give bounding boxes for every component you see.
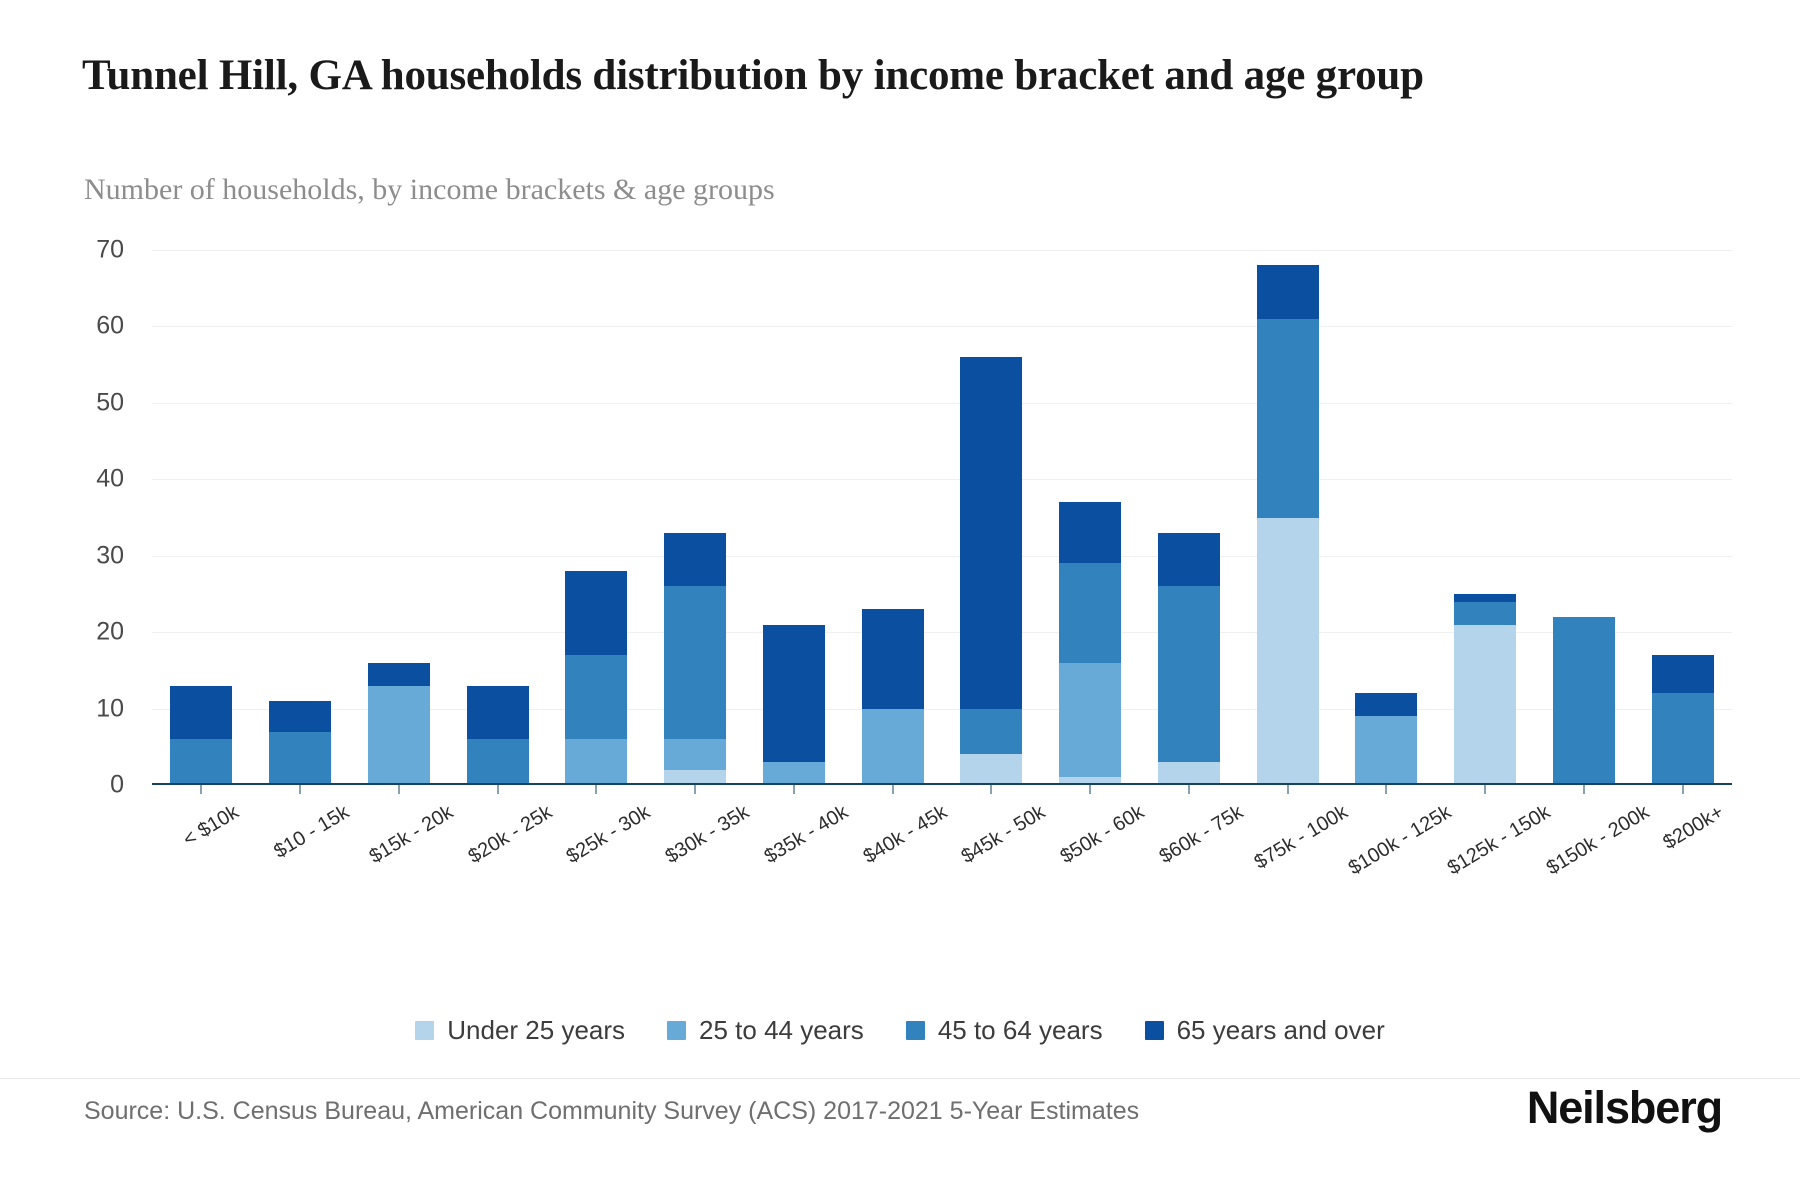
x-axis-line <box>152 783 1732 785</box>
bar-segment[interactable] <box>467 739 529 785</box>
bar-slot <box>350 250 449 785</box>
legend-swatch-icon <box>667 1021 686 1040</box>
bar-slot <box>646 250 745 785</box>
stacked-bar[interactable] <box>1553 617 1615 785</box>
bar-slot <box>448 250 547 785</box>
stacked-bar[interactable] <box>565 571 627 785</box>
y-tick-label: 50 <box>4 388 124 417</box>
bar-segment[interactable] <box>1355 716 1417 785</box>
stacked-bar[interactable] <box>862 609 924 785</box>
y-tick-label: 70 <box>4 236 124 265</box>
bar-slot <box>843 250 942 785</box>
legend-item[interactable]: 45 to 64 years <box>906 1015 1103 1046</box>
legend-label: 65 years and over <box>1177 1015 1385 1046</box>
x-label-slot: $15k - 20k <box>350 787 449 917</box>
x-tick-label: $35k - 40k <box>761 801 853 869</box>
bar-slot <box>1238 250 1337 785</box>
x-tick-label: $30k - 35k <box>662 801 754 869</box>
bar-segment[interactable] <box>368 663 430 686</box>
bar-segment[interactable] <box>565 571 627 655</box>
stacked-bar[interactable] <box>368 663 430 785</box>
x-label-slot: $200k+ <box>1633 787 1732 917</box>
stacked-bar[interactable] <box>763 625 825 785</box>
footer-divider <box>0 1078 1800 1079</box>
bar-segment[interactable] <box>1454 602 1516 625</box>
x-tick-label: < $10k <box>180 801 244 852</box>
bar-slot <box>1140 250 1239 785</box>
bar-segment[interactable] <box>1059 563 1121 662</box>
x-label-slot: $45k - 50k <box>942 787 1041 917</box>
x-tick-label: $25k - 30k <box>563 801 655 869</box>
legend-swatch-icon <box>906 1021 925 1040</box>
bar-segment[interactable] <box>1454 625 1516 786</box>
x-tick-label: $200k+ <box>1659 801 1728 855</box>
bar-slot <box>1436 250 1535 785</box>
bar-slot <box>1633 250 1732 785</box>
bar-slot <box>547 250 646 785</box>
stacked-bar[interactable] <box>467 686 529 785</box>
x-tick-label: $50k - 60k <box>1057 801 1149 869</box>
bar-segment[interactable] <box>1158 762 1220 785</box>
x-label-slot: $100k - 125k <box>1337 787 1436 917</box>
legend-swatch-icon <box>415 1021 434 1040</box>
bar-segment[interactable] <box>960 357 1022 709</box>
bar-segment[interactable] <box>960 754 1022 785</box>
x-label-slot: $20k - 25k <box>448 787 547 917</box>
bar-segment[interactable] <box>368 686 430 785</box>
x-label-slot: $40k - 45k <box>843 787 942 917</box>
stacked-bar[interactable] <box>1355 693 1417 785</box>
bar-segment[interactable] <box>1553 617 1615 785</box>
bar-segment[interactable] <box>269 732 331 786</box>
x-tick-label: $15k - 20k <box>366 801 458 869</box>
bar-segment[interactable] <box>1355 693 1417 716</box>
chart-page: Tunnel Hill, GA households distribution … <box>0 0 1800 1200</box>
legend-label: Under 25 years <box>447 1015 625 1046</box>
x-tick-label: $60k - 75k <box>1156 801 1248 869</box>
page-title: Tunnel Hill, GA households distribution … <box>82 48 1682 103</box>
x-label-slot: $125k - 150k <box>1436 787 1535 917</box>
bar-slot <box>942 250 1041 785</box>
bar-segment[interactable] <box>467 686 529 740</box>
stacked-bar[interactable] <box>170 686 232 785</box>
bar-segment[interactable] <box>565 655 627 739</box>
bar-slot <box>1535 250 1634 785</box>
x-label-slot: $30k - 35k <box>646 787 745 917</box>
plot-area: 010203040506070 <box>152 250 1732 785</box>
x-label-slot: $50k - 60k <box>1041 787 1140 917</box>
legend-label: 45 to 64 years <box>938 1015 1103 1046</box>
stacked-bar[interactable] <box>269 701 331 785</box>
y-tick-label: 20 <box>4 618 124 647</box>
x-label-slot: $35k - 40k <box>745 787 844 917</box>
bar-segment[interactable] <box>1257 265 1319 319</box>
bar-slot <box>1041 250 1140 785</box>
stacked-bar[interactable] <box>664 533 726 785</box>
legend-item[interactable]: 65 years and over <box>1145 1015 1385 1046</box>
bar-segment[interactable] <box>960 709 1022 755</box>
stacked-bar[interactable] <box>1454 594 1516 785</box>
x-tick-label: $45k - 50k <box>958 801 1050 869</box>
bar-segment[interactable] <box>664 586 726 739</box>
bar-segment[interactable] <box>1158 586 1220 762</box>
bar-segment[interactable] <box>763 762 825 785</box>
y-tick-label: 0 <box>4 771 124 800</box>
bar-segment[interactable] <box>1454 594 1516 602</box>
legend-label: 25 to 44 years <box>699 1015 864 1046</box>
legend-swatch-icon <box>1145 1021 1164 1040</box>
bar-segment[interactable] <box>1652 655 1714 693</box>
stacked-bar[interactable] <box>960 357 1022 785</box>
stacked-bar[interactable] <box>1257 265 1319 785</box>
bars-container <box>152 250 1732 785</box>
bar-segment[interactable] <box>664 533 726 587</box>
bar-segment[interactable] <box>170 686 232 740</box>
page-subtitle: Number of households, by income brackets… <box>84 172 1384 208</box>
legend-item[interactable]: Under 25 years <box>415 1015 625 1046</box>
bar-segment[interactable] <box>565 739 627 785</box>
y-tick-label: 40 <box>4 465 124 494</box>
y-tick-label: 10 <box>4 694 124 723</box>
stacked-bar[interactable] <box>1652 655 1714 785</box>
bar-segment[interactable] <box>1257 319 1319 518</box>
bar-slot <box>1337 250 1436 785</box>
x-tick-label: $40k - 45k <box>859 801 951 869</box>
bar-slot <box>152 250 251 785</box>
bar-segment[interactable] <box>1059 663 1121 778</box>
bar-segment[interactable] <box>763 625 825 763</box>
bar-segment[interactable] <box>1059 502 1121 563</box>
bar-segment[interactable] <box>862 709 924 785</box>
brand-logo: Neilsberg <box>1527 1082 1722 1134</box>
source-note: Source: U.S. Census Bureau, American Com… <box>84 1097 1139 1126</box>
x-label-slot: $60k - 75k <box>1140 787 1239 917</box>
bar-segment[interactable] <box>1652 693 1714 785</box>
stacked-bar[interactable] <box>1059 502 1121 785</box>
x-tick-label: $20k - 25k <box>464 801 556 869</box>
x-label-slot: $25k - 30k <box>547 787 646 917</box>
y-tick-label: 60 <box>4 312 124 341</box>
bar-segment[interactable] <box>862 609 924 708</box>
x-tick-label: $10 - 15k <box>270 801 353 864</box>
x-axis-labels: < $10k$10 - 15k$15k - 20k$20k - 25k$25k … <box>152 787 1732 917</box>
x-label-slot: $75k - 100k <box>1238 787 1337 917</box>
chart-legend: Under 25 years25 to 44 years45 to 64 yea… <box>0 1015 1800 1046</box>
y-tick-label: 30 <box>4 541 124 570</box>
bar-slot <box>251 250 350 785</box>
x-label-slot: < $10k <box>152 787 251 917</box>
bar-segment[interactable] <box>1257 518 1319 786</box>
bar-segment[interactable] <box>664 739 726 770</box>
stacked-bar[interactable] <box>1158 533 1220 785</box>
x-label-slot: $150k - 200k <box>1535 787 1634 917</box>
bar-segment[interactable] <box>170 739 232 785</box>
bar-segment[interactable] <box>1158 533 1220 587</box>
bar-slot <box>745 250 844 785</box>
legend-item[interactable]: 25 to 44 years <box>667 1015 864 1046</box>
x-label-slot: $10 - 15k <box>251 787 350 917</box>
bar-segment[interactable] <box>269 701 331 732</box>
